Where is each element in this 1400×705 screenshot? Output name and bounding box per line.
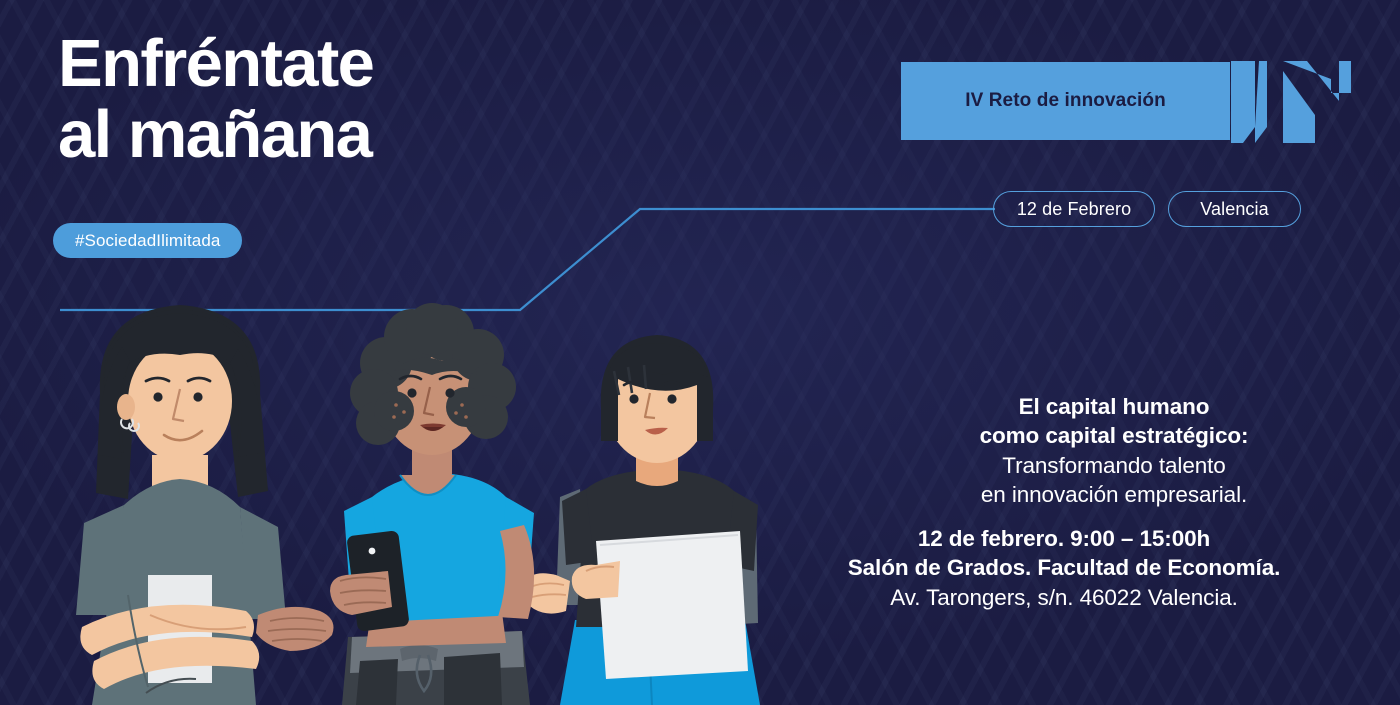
person-bob-hair xyxy=(522,335,760,705)
in-monogram-logo-icon xyxy=(1221,57,1351,149)
theme-line: El capital humano xyxy=(904,392,1324,421)
theme-line: en innovación empresarial. xyxy=(904,480,1324,509)
banner-label: IV Reto de innovación xyxy=(965,90,1166,112)
person-long-hair xyxy=(76,305,334,705)
venue-line: 12 de febrero. 9:00 – 15:00h xyxy=(804,524,1324,553)
people-illustration xyxy=(0,275,800,705)
pill-city-label: Valencia xyxy=(1200,199,1269,220)
brand-banner: IV Reto de innovación xyxy=(901,62,1341,140)
pill-city[interactable]: Valencia xyxy=(1168,191,1301,227)
pill-date-label: 12 de Febrero xyxy=(1017,199,1131,220)
banner-bar: IV Reto de innovación xyxy=(901,62,1230,140)
theme-line: como capital estratégico: xyxy=(904,421,1324,450)
theme-text-block: El capital humano como capital estratégi… xyxy=(904,392,1324,509)
venue-text-block: 12 de febrero. 9:00 – 15:00h Salón de Gr… xyxy=(804,524,1324,612)
venue-line: Salón de Grados. Facultad de Economía. xyxy=(804,553,1324,582)
page-title: Enfréntate al mañana xyxy=(58,28,373,170)
event-poster: Enfréntate al mañana #SociedadIlimitada … xyxy=(0,0,1400,705)
pill-date[interactable]: 12 de Febrero xyxy=(993,191,1155,227)
hashtag-badge[interactable]: #SociedadIlimitada xyxy=(53,223,242,258)
person-curly-hair xyxy=(330,303,534,705)
venue-line: Av. Tarongers, s/n. 46022 Valencia. xyxy=(804,583,1324,612)
theme-line: Transformando talento xyxy=(904,451,1324,480)
hashtag-label: #SociedadIlimitada xyxy=(75,231,220,251)
